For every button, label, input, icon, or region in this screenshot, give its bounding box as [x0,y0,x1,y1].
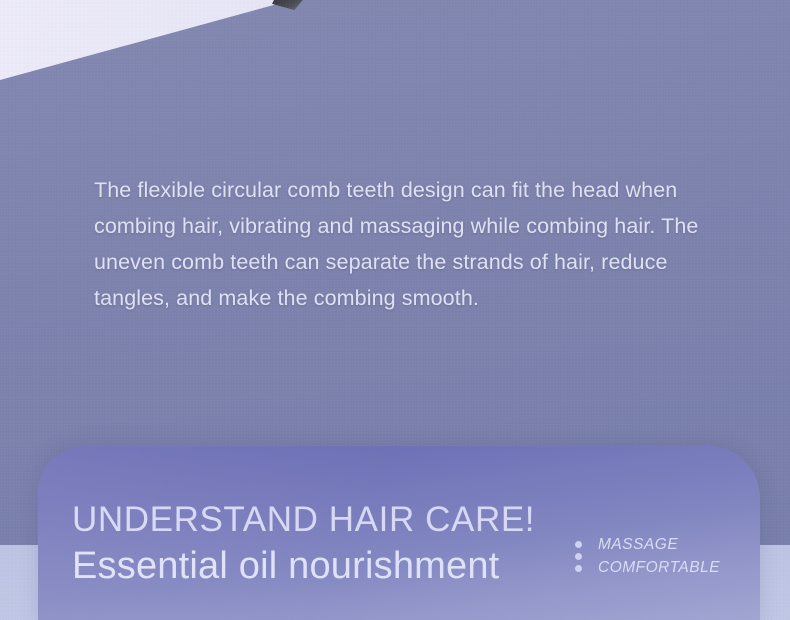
promo-headline-group: UNDERSTAND HAIR CARE! Essential oil nour… [72,498,535,590]
description-paragraph: The flexible circular comb teeth design … [94,172,744,316]
promo-card: UNDERSTAND HAIR CARE! Essential oil nour… [38,446,760,620]
product-banner: The flexible circular comb teeth design … [0,0,790,620]
promo-headline-primary: UNDERSTAND HAIR CARE! [72,498,535,542]
promo-headline-secondary: Essential oil nourishment [72,542,535,590]
feature-tag-labels: MASSAGE COMFORTABLE [598,534,720,578]
bullet-dots-icon [575,541,582,572]
feature-tag-comfortable: COMFORTABLE [598,557,720,578]
dot-icon [575,553,582,560]
feature-tag-massage: MASSAGE [598,534,720,555]
feature-tag-group: MASSAGE COMFORTABLE [575,534,720,578]
dot-icon [575,541,582,548]
dot-icon [575,565,582,572]
